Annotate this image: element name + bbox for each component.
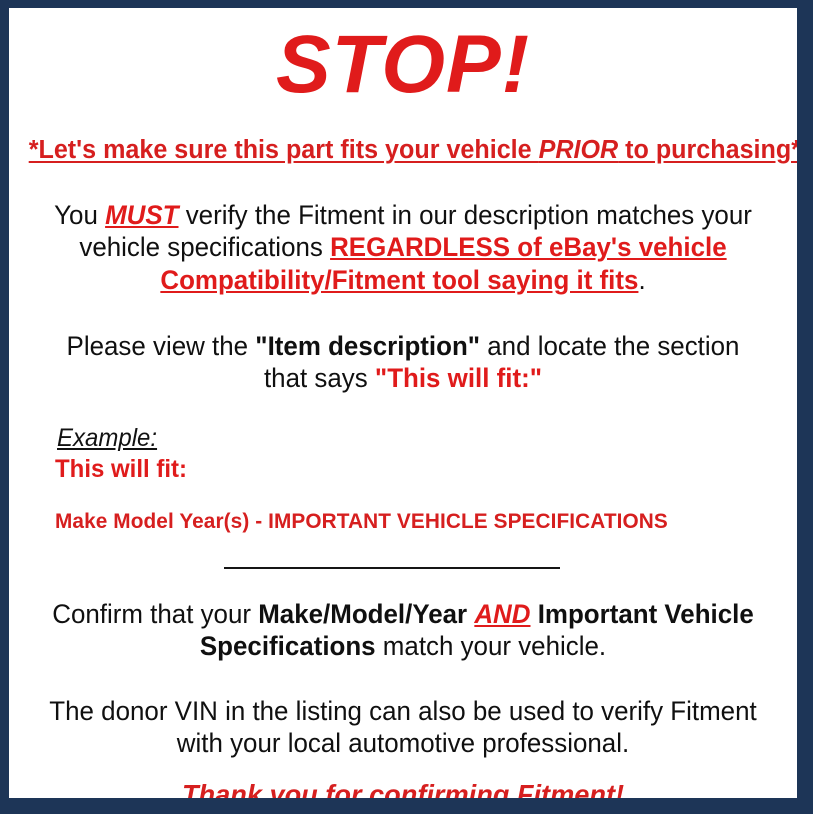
example-label: Example: [57,424,157,453]
view-description-paragraph: Please view the "Item description" and l… [38,330,768,394]
stop-heading: STOP! [23,8,783,106]
must-verify-paragraph: You MUST verify the Fitment in our descr… [38,199,768,295]
make-model-year-emphasis: Make/Model/Year [258,599,467,629]
tagline: *Let's make sure this part fits your veh… [29,136,778,165]
example-fit-header: This will fit: [55,455,754,484]
view-paragraph-part1: Please view the [67,331,256,361]
fitment-notice-body: STOP! *Let's make sure this part fits yo… [9,8,797,798]
thanks-message: Thank you for confirming Fitment! [34,779,771,811]
must-paragraph-part1: You [54,200,105,230]
confirm-paragraph-part1: Confirm that your [52,599,258,629]
example-spec-line: Make Model Year(s) - IMPORTANT VEHICLE S… [55,510,776,534]
divider-wrap [23,556,783,570]
this-will-fit-quote: "This will fit:" [375,363,542,393]
confirm-paragraph: Confirm that your Make/Model/Year AND Im… [38,598,768,662]
tagline-after: to purchasing* [618,136,801,164]
vin-paragraph: The donor VIN in the listing can also be… [38,695,768,759]
confirm-paragraph-part2: match your vehicle. [376,631,607,661]
item-description-label: "Item description" [255,331,480,361]
example-block: Example: This will fit: Make Model Year(… [23,424,783,534]
tagline-before: *Let's make sure this part fits your veh… [29,136,539,164]
must-emphasis: MUST [105,200,178,230]
tagline-emphasis-prior: PRIOR [539,136,619,164]
must-paragraph-part3: . [638,265,645,295]
and-emphasis: AND [474,599,530,629]
fitment-notice-card: STOP! *Let's make sure this part fits yo… [0,0,813,814]
horizontal-divider [224,567,560,569]
